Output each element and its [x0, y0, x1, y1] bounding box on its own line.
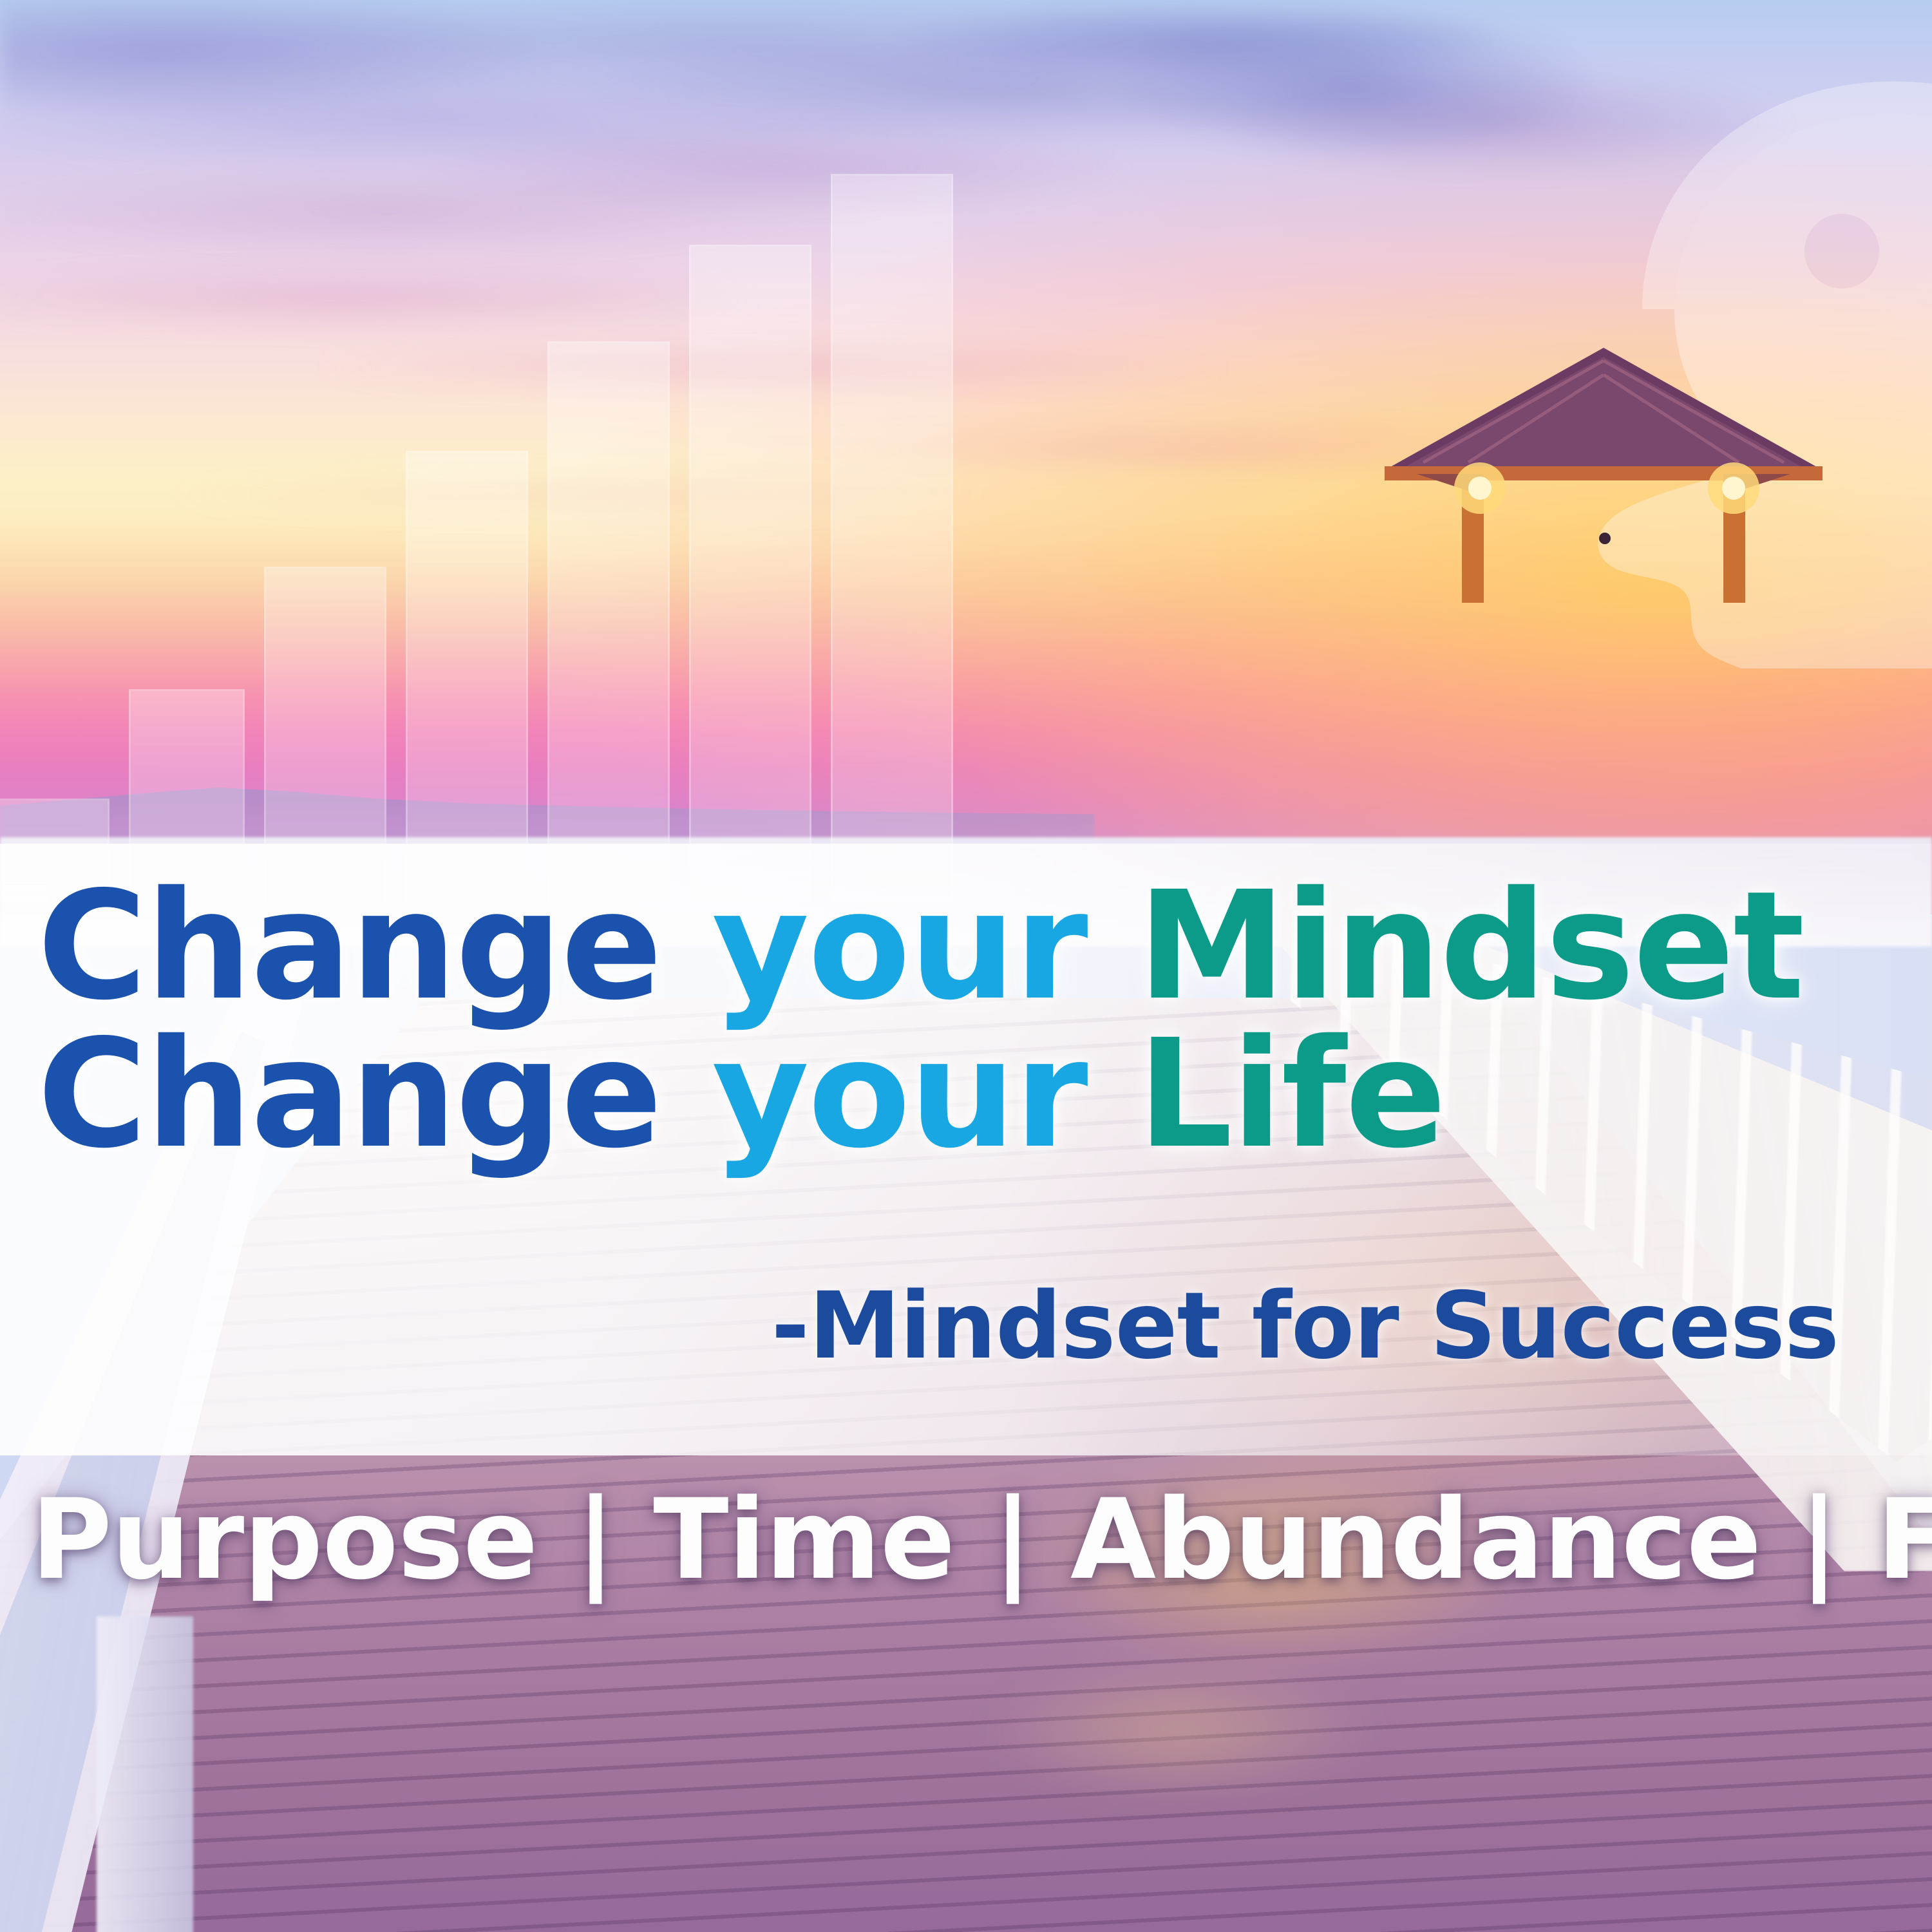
- headline-line-2: Change your Life: [37, 1021, 1905, 1169]
- gazebo-icon: [1378, 335, 1829, 631]
- page-title: Change your Mindset Change your Life: [37, 873, 1905, 1168]
- poster-canvas: Change your Mindset Change your Life -Mi…: [0, 0, 1932, 1932]
- headline-word-change-2: Change: [37, 1007, 712, 1181]
- chart-bar: [547, 341, 670, 902]
- chart-bar: [689, 245, 811, 902]
- subtitle: -Mindset for Success: [0, 1272, 1839, 1379]
- chart-bar: [831, 174, 953, 902]
- headline-line-1: Change your Mindset: [37, 873, 1905, 1021]
- headline-word-your-2: your: [712, 1007, 1137, 1181]
- left-railing-post: [97, 1616, 193, 1932]
- tagline: Purpose | Time | Abundance | Freedom: [31, 1475, 1932, 1604]
- headline-word-life: Life: [1137, 1007, 1445, 1181]
- growth-bar-chart: [0, 0, 1095, 902]
- chart-bar: [406, 451, 528, 902]
